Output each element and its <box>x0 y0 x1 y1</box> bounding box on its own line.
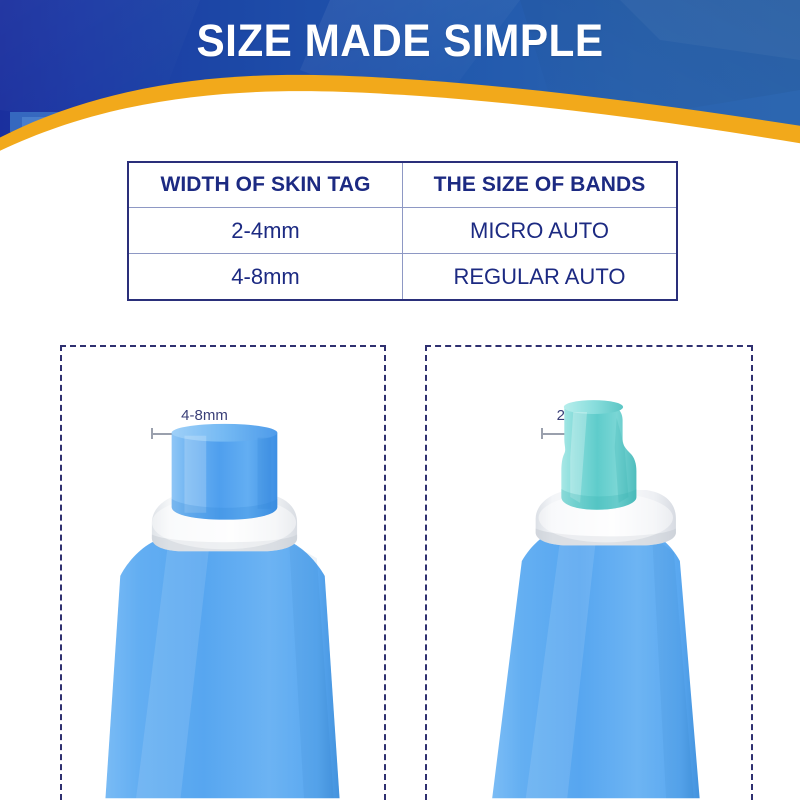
cell-band-regular: REGULAR AUTO <box>403 254 678 301</box>
device-panel-regular: 4-8mm <box>60 345 386 800</box>
device-illustration-regular <box>62 347 384 800</box>
device-panel-micro: 2-4mm <box>425 345 753 800</box>
column-header-width: WIDTH OF SKIN TAG <box>128 162 403 208</box>
table-row: 2-4mm MICRO AUTO <box>128 208 677 254</box>
cell-width-regular: 4-8mm <box>128 254 403 301</box>
table-row: 4-8mm REGULAR AUTO <box>128 254 677 301</box>
device-nozzle-top <box>564 400 623 414</box>
cell-width-micro: 2-4mm <box>128 208 403 254</box>
size-table: WIDTH OF SKIN TAG THE SIZE OF BANDS 2-4m… <box>127 161 678 301</box>
device-illustration-micro <box>427 347 751 800</box>
column-header-bands: THE SIZE OF BANDS <box>403 162 678 208</box>
cell-band-micro: MICRO AUTO <box>403 208 678 254</box>
table-header-row: WIDTH OF SKIN TAG THE SIZE OF BANDS <box>128 162 677 208</box>
header-banner: SIZE MADE SIMPLE <box>0 0 800 172</box>
page-title: SIZE MADE SIMPLE <box>24 14 776 68</box>
